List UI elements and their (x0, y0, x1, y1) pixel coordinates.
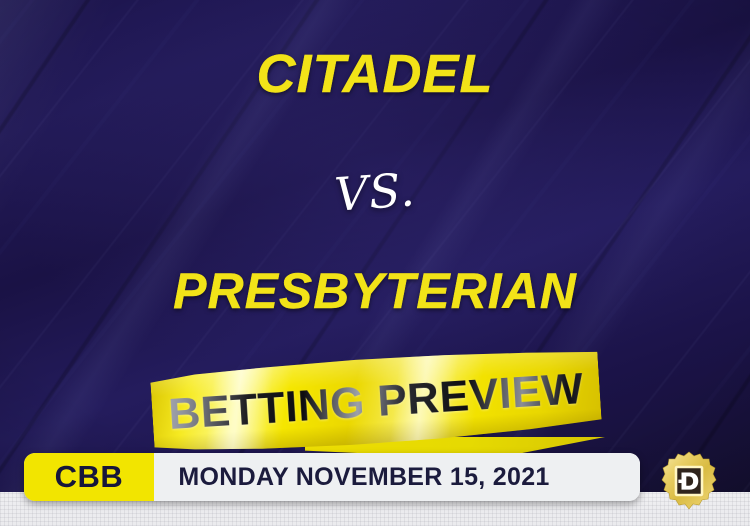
league-chip: CBB (24, 453, 154, 501)
date-container: MONDAY NOVEMBER 15, 2021 (154, 453, 640, 501)
home-team-name: PRESBYTERIAN (0, 266, 750, 316)
info-bar: CBB MONDAY NOVEMBER 15, 2021 (24, 453, 640, 501)
gold-seal-badge (660, 450, 718, 512)
away-team-name: CITADEL (0, 47, 750, 101)
betting-preview-graphic: CITADEL VS. PRESBYTERIAN BETTING PREVIEW… (0, 0, 750, 526)
event-date: MONDAY NOVEMBER 15, 2021 (178, 463, 549, 492)
